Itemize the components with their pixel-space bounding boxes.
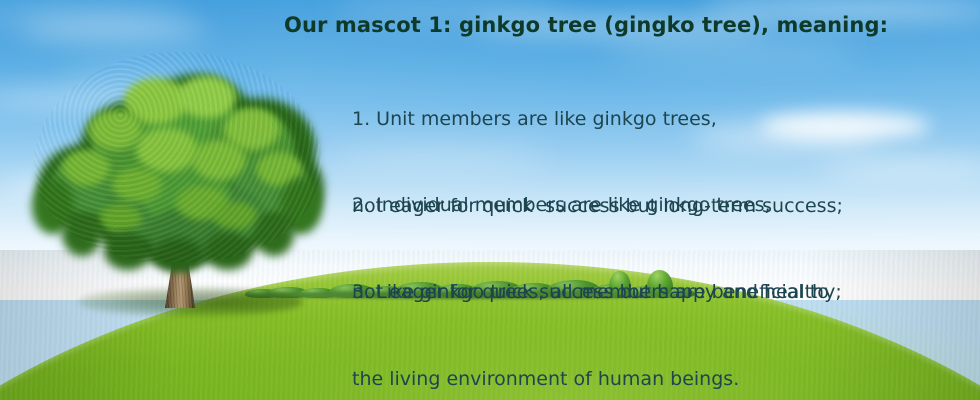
text-line: the living environment of human beings. (352, 365, 829, 394)
text-line: 1. Unit members are like ginkgo trees, (352, 105, 843, 134)
text-line: 2. Individual members are like ginkgo tr… (352, 191, 842, 220)
banner-text: Our mascot 1: ginkgo tree (gingko tree),… (0, 0, 980, 400)
text-line: 3. Like ginkgo trees, all members are be… (352, 278, 829, 307)
hero-banner: Our mascot 1: ginkgo tree (gingko tree),… (0, 0, 980, 400)
banner-headline: Our mascot 1: ginkgo tree (gingko tree),… (284, 13, 888, 37)
mascot-meaning-item-3: 3. Like ginkgo trees, all members are be… (352, 220, 829, 400)
